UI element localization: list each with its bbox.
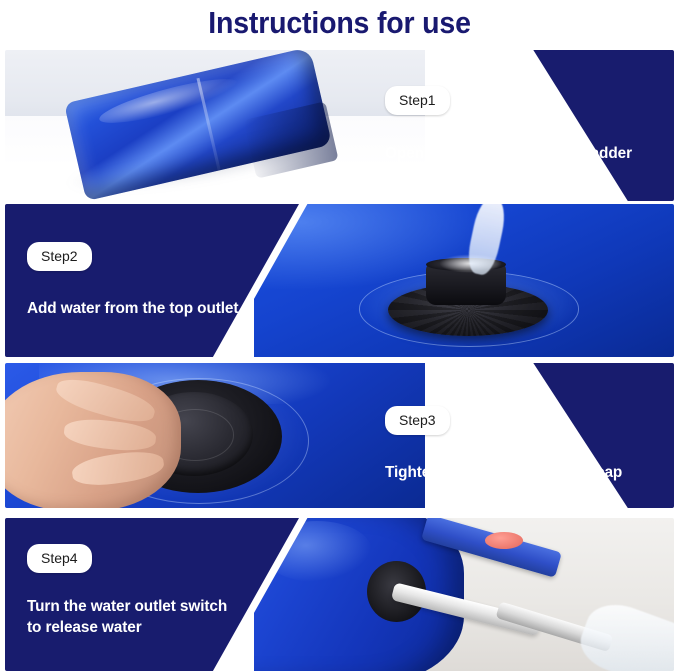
step-4-text-line-1: Turn the water outlet switch [27,596,277,617]
water-flow [573,595,674,671]
step-row-4: Step4 Turn the water outlet switch to re… [5,518,674,671]
step-row-1: Step1 Open large capacity water bladder [5,50,674,201]
step-1-image [5,50,425,201]
step-3-content: Step3 Tighten the upper water inlet cap [385,363,674,508]
step-3-image [5,363,425,508]
step-1-badge: Step1 [385,86,450,115]
lever-cap-dot [485,532,523,549]
step-2-badge: Step2 [27,242,92,271]
step-1-text: Open large capacity water bladder [385,143,632,164]
page-title: Instructions for use [27,0,652,46]
step-4-content: Step4 Turn the water outlet switch to re… [27,518,327,671]
step-3-text: Tighten the upper water inlet cap [385,462,622,483]
step-2-content: Step2 Add water from the top outlet [27,204,327,357]
step-4-text-line-2: to release water [27,617,277,638]
step-1-content: Step1 Open large capacity water bladder [385,50,674,201]
step-row-3: Step3 Tighten the upper water inlet cap [5,363,674,508]
step-3-badge: Step3 [385,406,450,435]
instructions-page: Instructions for use Step1 Open large ca… [0,0,679,671]
step-4-text: Turn the water outlet switch to release … [27,596,277,638]
step-4-badge: Step4 [27,544,92,573]
step-row-2: Step2 Add water from the top outlet [5,204,674,357]
step-2-text: Add water from the top outlet [27,298,238,319]
